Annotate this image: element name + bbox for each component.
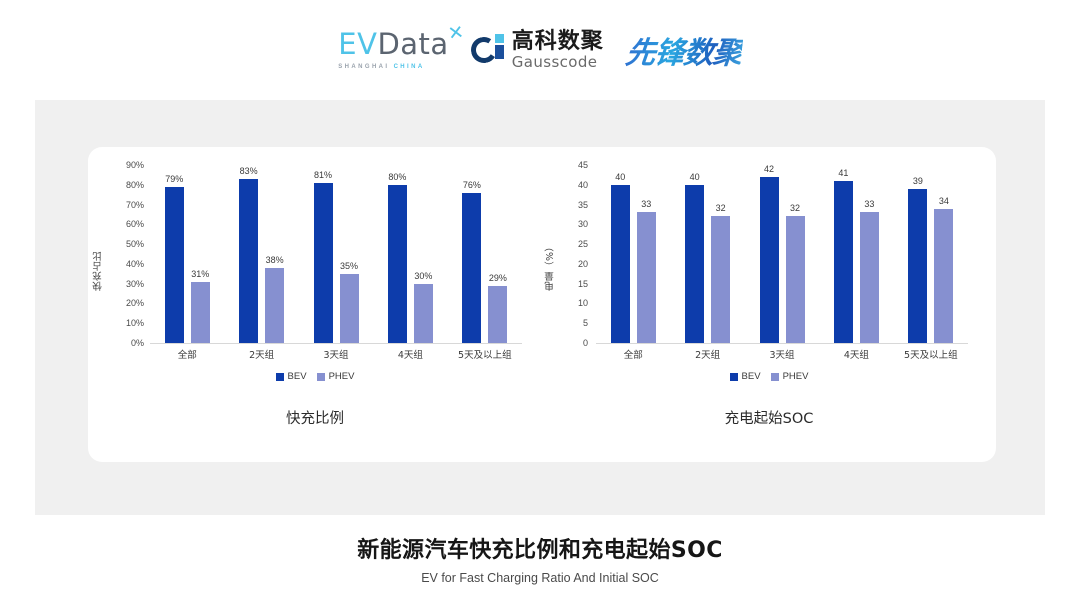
- bar-phev[interactable]: [191, 282, 210, 343]
- gausscode-name-cn: 高科数聚: [512, 31, 604, 53]
- y-tick-label: 60%: [126, 219, 144, 229]
- bar-holder: 29%: [488, 165, 507, 343]
- y-tick-label: 20: [578, 259, 588, 269]
- bar-bev[interactable]: [165, 187, 184, 343]
- x-category-label: 全部: [150, 347, 224, 361]
- gausscode-square-cyan: [495, 34, 504, 43]
- footer: 新能源汽车快充比例和充电起始SOC EV for Fast Charging R…: [0, 532, 1080, 585]
- bar-value-label: 81%: [314, 170, 332, 180]
- bar-value-label: 35%: [340, 261, 358, 271]
- page-title: 新能源汽车快充比例和充电起始SOC: [0, 532, 1080, 564]
- gausscode-mark-icon: [471, 34, 505, 66]
- y-tick-label: 90%: [126, 160, 144, 170]
- y-tick-label: 40: [578, 180, 588, 190]
- bar-phev[interactable]: [414, 284, 433, 343]
- bar-phev[interactable]: [860, 212, 879, 343]
- evdata-wordmark: EVData ✕: [338, 30, 448, 59]
- y-tick-label: 40%: [126, 259, 144, 269]
- bar-bev[interactable]: [388, 185, 407, 343]
- bar-value-label: 33: [641, 199, 651, 209]
- bar-bev[interactable]: [908, 189, 927, 343]
- y-tick-label: 50%: [126, 239, 144, 249]
- bar-group: 4133: [819, 165, 893, 343]
- gausscode-logo: 高科数聚 Gausscode: [471, 31, 604, 70]
- xianfeng-wordmark: 先锋数聚: [623, 28, 744, 72]
- bar-holder: 30%: [414, 165, 433, 343]
- bar-group: 80%30%: [373, 165, 447, 343]
- x-mark-icon: ✕: [447, 23, 466, 44]
- plot-area-0: 79%31%83%38%81%35%80%30%76%29%: [150, 165, 522, 344]
- legend-swatch-bev-icon: [730, 373, 738, 381]
- bar-value-label: 32: [790, 203, 800, 213]
- bar-value-label: 79%: [165, 174, 183, 184]
- legend-item-bev[interactable]: BEV: [276, 371, 307, 382]
- bar-group: 4232: [745, 165, 819, 343]
- y-tick-label: 35: [578, 200, 588, 210]
- chart-caption-1: 充电起始SOC: [542, 407, 996, 428]
- bar-phev[interactable]: [786, 216, 805, 343]
- legend-swatch-phev-icon: [317, 373, 325, 381]
- bar-holder: 34: [934, 165, 953, 343]
- gausscode-text: 高科数聚 Gausscode: [512, 31, 604, 70]
- y-tick-label: 0%: [131, 338, 144, 348]
- bar-holder: 42: [760, 165, 779, 343]
- bar-bev[interactable]: [760, 177, 779, 343]
- x-category-label: 3天组: [745, 347, 819, 361]
- bar-bev[interactable]: [314, 183, 333, 343]
- bar-bev[interactable]: [834, 181, 853, 343]
- bar-phev[interactable]: [711, 216, 730, 343]
- bar-holder: 39: [908, 165, 927, 343]
- bar-phev[interactable]: [934, 209, 953, 343]
- legend-item-phev[interactable]: PHEV: [771, 371, 809, 382]
- legend-label-bev: BEV: [742, 371, 761, 382]
- evdata-tagline: SHANGHAI CHINA: [338, 64, 424, 70]
- y-tick-labels-1: 051015202530354045: [562, 165, 588, 343]
- x-category-labels-1: 全部2天组3天组4天组5天及以上组: [596, 347, 968, 361]
- bar-holder: 80%: [388, 165, 407, 343]
- x-category-label: 2天组: [670, 347, 744, 361]
- bar-holder: 83%: [239, 165, 258, 343]
- x-category-label: 4天组: [373, 347, 447, 361]
- x-category-label: 5天及以上组: [448, 347, 522, 361]
- x-category-label: 2天组: [224, 347, 298, 361]
- bar-holder: 32: [711, 165, 730, 343]
- bar-group: 81%35%: [299, 165, 373, 343]
- bar-value-label: 34: [939, 196, 949, 206]
- bar-value-label: 42: [764, 164, 774, 174]
- bar-phev[interactable]: [637, 212, 656, 343]
- bar-holder: 40: [685, 165, 704, 343]
- bar-value-label: 39: [913, 176, 923, 186]
- bar-value-label: 80%: [388, 172, 406, 182]
- gausscode-square-blue: [495, 45, 504, 59]
- bar-group: 83%38%: [224, 165, 298, 343]
- legend-item-phev[interactable]: PHEV: [317, 371, 355, 382]
- y-tick-labels-0: 0%10%20%30%40%50%60%70%80%90%: [110, 165, 144, 343]
- chart-fast-charging-ratio: 快充占比 0%10%20%30%40%50%60%70%80%90% 79%31…: [88, 155, 542, 445]
- x-category-label: 4天组: [819, 347, 893, 361]
- bar-holder: 41: [834, 165, 853, 343]
- y-tick-label: 30%: [126, 279, 144, 289]
- bar-phev[interactable]: [488, 286, 507, 343]
- legend-item-bev[interactable]: BEV: [730, 371, 761, 382]
- x-category-label: 5天及以上组: [894, 347, 968, 361]
- plot-wrap-0: 快充占比 0%10%20%30%40%50%60%70%80%90% 79%31…: [88, 155, 542, 365]
- evdata-wordmark-data: Data: [377, 27, 448, 61]
- page-subtitle: EV for Fast Charging Ratio And Initial S…: [0, 571, 1080, 585]
- evdata-tagline-city: SHANGHAI: [338, 64, 393, 70]
- y-tick-label: 5: [583, 318, 588, 328]
- bar-phev[interactable]: [265, 268, 284, 343]
- plot-area-1: 40334032423241333934: [596, 165, 968, 344]
- bar-bev[interactable]: [685, 185, 704, 343]
- x-category-label: 3天组: [299, 347, 373, 361]
- y-tick-label: 25: [578, 239, 588, 249]
- legend-label-phev: PHEV: [329, 371, 355, 382]
- evdata-tagline-country: CHINA: [394, 64, 425, 70]
- y-tick-label: 80%: [126, 180, 144, 190]
- bar-group: 79%31%: [150, 165, 224, 343]
- bar-holder: 38%: [265, 165, 284, 343]
- bar-group: 76%29%: [448, 165, 522, 343]
- x-category-label: 全部: [596, 347, 670, 361]
- bar-holder: 33: [637, 165, 656, 343]
- legend-label-bev: BEV: [288, 371, 307, 382]
- chart-caption-0: 快充比例: [88, 407, 542, 428]
- y-axis-title-1: 电量（%）: [544, 217, 558, 291]
- bar-value-label: 76%: [463, 180, 481, 190]
- legend-swatch-phev-icon: [771, 373, 779, 381]
- bar-holder: 35%: [340, 165, 359, 343]
- y-tick-label: 30: [578, 219, 588, 229]
- bar-holder: 40: [611, 165, 630, 343]
- bar-value-label: 41: [838, 168, 848, 178]
- y-tick-label: 45: [578, 160, 588, 170]
- bar-value-label: 31%: [191, 269, 209, 279]
- y-tick-label: 70%: [126, 200, 144, 210]
- legend-swatch-bev-icon: [276, 373, 284, 381]
- evdata-wordmark-ev: EV: [338, 27, 377, 61]
- bar-value-label: 38%: [266, 255, 284, 265]
- xianfeng-logo: 先锋数聚: [626, 28, 742, 72]
- gausscode-name-en: Gausscode: [512, 55, 604, 70]
- legend-1: BEV PHEV: [542, 371, 996, 382]
- bar-bev[interactable]: [611, 185, 630, 343]
- bar-value-label: 30%: [414, 271, 432, 281]
- bar-holder: 81%: [314, 165, 333, 343]
- y-tick-label: 10: [578, 298, 588, 308]
- bar-group: 3934: [894, 165, 968, 343]
- bar-bev[interactable]: [462, 193, 481, 343]
- bar-group: 4033: [596, 165, 670, 343]
- legend-0: BEV PHEV: [88, 371, 542, 382]
- y-tick-label: 10%: [126, 318, 144, 328]
- y-tick-label: 15: [578, 279, 588, 289]
- bar-bev[interactable]: [239, 179, 258, 343]
- bar-value-label: 40: [615, 172, 625, 182]
- bar-value-label: 32: [716, 203, 726, 213]
- bar-group: 4032: [670, 165, 744, 343]
- chart-initial-soc: 电量（%） 051015202530354045 403340324232413…: [542, 155, 996, 445]
- bar-phev[interactable]: [340, 274, 359, 343]
- logo-bar: EVData ✕ SHANGHAI CHINA 高科数聚 Gausscode 先…: [0, 22, 1080, 78]
- bar-holder: 31%: [191, 165, 210, 343]
- bar-holder: 79%: [165, 165, 184, 343]
- bar-value-label: 83%: [240, 166, 258, 176]
- y-axis-title-0: 快充占比: [92, 217, 106, 291]
- bar-holder: 76%: [462, 165, 481, 343]
- bar-holder: 33: [860, 165, 879, 343]
- bar-holder: 32: [786, 165, 805, 343]
- charts-row: 快充占比 0%10%20%30%40%50%60%70%80%90% 79%31…: [88, 155, 996, 445]
- bar-value-label: 33: [864, 199, 874, 209]
- y-tick-label: 0: [583, 338, 588, 348]
- plot-wrap-1: 电量（%） 051015202530354045 403340324232413…: [542, 155, 996, 365]
- legend-label-phev: PHEV: [783, 371, 809, 382]
- bar-value-label: 40: [690, 172, 700, 182]
- x-category-labels-0: 全部2天组3天组4天组5天及以上组: [150, 347, 522, 361]
- bar-value-label: 29%: [489, 273, 507, 283]
- y-tick-label: 20%: [126, 298, 144, 308]
- evdata-logo: EVData ✕ SHANGHAI CHINA: [338, 30, 448, 70]
